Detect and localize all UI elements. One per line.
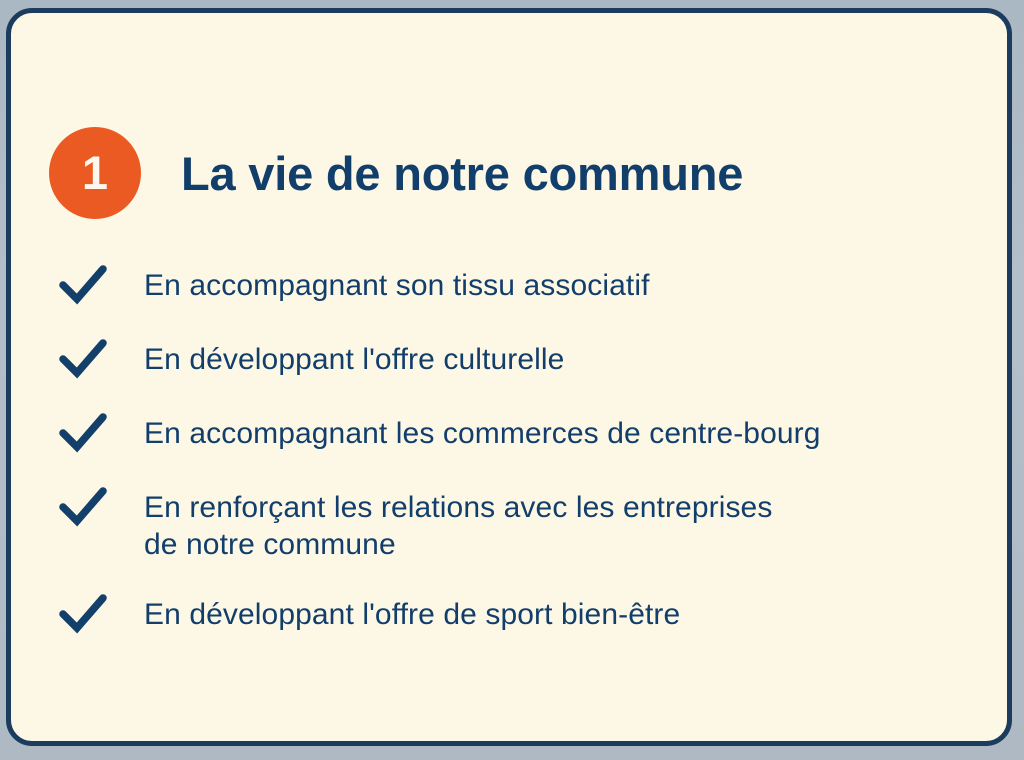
list-item-label: En accompagnant son tissu associatif — [144, 261, 650, 304]
check-icon — [57, 333, 109, 385]
list-item: En renforçant les relations avec les ent… — [57, 483, 977, 563]
section-header: 1 La vie de notre commune — [49, 127, 743, 219]
list-item-label: En accompagnant les commerces de centre-… — [144, 409, 821, 452]
bullet-list: En accompagnant son tissu associatif En … — [57, 261, 977, 664]
page-title: La vie de notre commune — [181, 150, 743, 197]
content-card: 1 La vie de notre commune En accompagnan… — [6, 8, 1012, 746]
list-item: En accompagnant les commerces de centre-… — [57, 409, 977, 459]
check-icon — [57, 481, 109, 533]
list-item-label: En renforçant les relations avec les ent… — [144, 483, 772, 563]
check-icon — [57, 588, 109, 640]
list-item: En développant l'offre de sport bien-êtr… — [57, 590, 977, 640]
section-number-badge: 1 — [49, 127, 141, 219]
list-item: En développant l'offre culturelle — [57, 335, 977, 385]
check-icon — [57, 407, 109, 459]
check-icon — [57, 259, 109, 311]
list-item: En accompagnant son tissu associatif — [57, 261, 977, 311]
list-item-label: En développant l'offre culturelle — [144, 335, 564, 378]
list-item-label: En développant l'offre de sport bien-êtr… — [144, 590, 680, 633]
slide-root: 1 La vie de notre commune En accompagnan… — [0, 0, 1024, 760]
section-number: 1 — [82, 149, 108, 196]
